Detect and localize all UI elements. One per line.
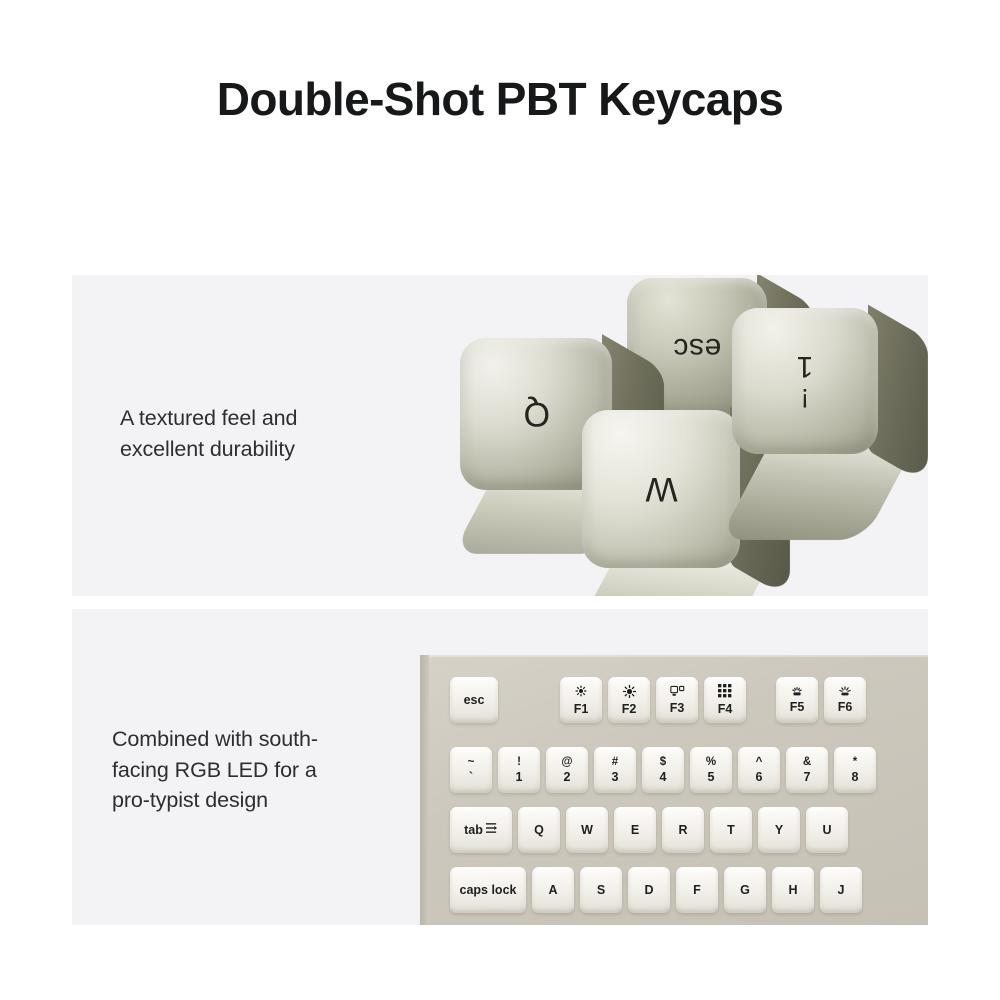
keyboard-key-label: W <box>581 823 593 837</box>
keyboard-key-y[interactable]: Y <box>758 807 800 853</box>
keycap-w-legend: W <box>645 472 678 506</box>
keyboard-key-shift-legend: * <box>853 756 857 769</box>
keyboard-key-wrapper-s: S <box>580 867 622 913</box>
keyboard-key-label: T <box>727 823 735 837</box>
keyboard-key-shift-legend: ^ <box>756 756 763 769</box>
keyboard-key-wrapper-tilde: ~` <box>450 747 492 793</box>
keyboard-key-wrapper-f1: F1 <box>560 677 602 723</box>
keycap-one-base-legend: 1 <box>796 351 813 381</box>
keyboard-key-wrapper-g: G <box>724 867 766 913</box>
product-feature-page: Double-Shot PBT Keycaps A textured feel … <box>0 0 1000 1000</box>
keyboard-key-wrapper-k2: @2 <box>546 747 588 793</box>
keyboard-key-label: E <box>631 823 639 837</box>
keyboard-key-label: caps lock <box>460 883 517 897</box>
keyboard-key-wrapper-k8: *8 <box>834 747 876 793</box>
keyboard-key-e[interactable]: E <box>614 807 656 853</box>
keyboard-key-k1[interactable]: !1 <box>498 747 540 793</box>
keyboard-key-base-legend: 6 <box>756 770 763 784</box>
keyboard-key-shift-legend: ~ <box>468 756 475 769</box>
keyboard-key-t[interactable]: T <box>710 807 752 853</box>
keycap-w: W <box>582 410 740 568</box>
keyboard-row-gap <box>752 677 770 723</box>
keyboard-key-base-legend: 2 <box>564 770 571 784</box>
keyboard-key-label: tab <box>464 823 483 837</box>
keyboard-key-wrapper-d: D <box>628 867 670 913</box>
keyboard-key-s[interactable]: S <box>580 867 622 913</box>
keyboard-photo: esc F1 F2 F3 F4 F5 F6 ~`!1@2#3$4%5^6&7*8… <box>420 655 928 925</box>
keyboard-key-f6[interactable]: F6 <box>824 677 866 723</box>
keyboard-key-base-legend: 4 <box>660 770 667 784</box>
brightness-down-icon <box>574 684 588 701</box>
keyboard-key-wrapper-f4: F4 <box>704 677 746 723</box>
brightness-up-icon <box>622 684 637 702</box>
keyboard-key-k6[interactable]: ^6 <box>738 747 780 793</box>
keyboard-function-row: esc F1 F2 F3 F4 F5 F6 <box>450 677 866 723</box>
keyboard-key-base-legend: ` <box>469 770 473 784</box>
keyboard-key-wrapper-e: E <box>614 807 656 853</box>
keyboard-key-wrapper-f5: F5 <box>776 677 818 723</box>
keyboard-key-w[interactable]: W <box>566 807 608 853</box>
keyboard-key-label: F1 <box>574 702 589 716</box>
keyboard-key-d[interactable]: D <box>628 867 670 913</box>
keyboard-key-f2[interactable]: F2 <box>608 677 650 723</box>
keyboard-key-label: Y <box>775 823 783 837</box>
keyboard-key-label: F4 <box>718 702 733 716</box>
keyboard-key-wrapper-u: U <box>806 807 848 853</box>
keyboard-key-u[interactable]: U <box>806 807 848 853</box>
keyboard-key-wrapper-y: Y <box>758 807 800 853</box>
keyboard-key-shift-legend: & <box>803 756 811 769</box>
keyboard-key-k3[interactable]: #3 <box>594 747 636 793</box>
keyboard-key-base-legend: 5 <box>708 770 715 784</box>
keyboard-key-wrapper-f6: F6 <box>824 677 866 723</box>
keyboard-key-a[interactable]: A <box>532 867 574 913</box>
keyboard-key-wrapper-h: H <box>772 867 814 913</box>
keyboard-key-label: Q <box>534 823 544 837</box>
keyboard-key-r[interactable]: R <box>662 807 704 853</box>
feature-panel-keycap-texture: A textured feel and excellent durability… <box>72 275 928 596</box>
keyboard-key-wrapper-k6: ^6 <box>738 747 780 793</box>
keyboard-key-wrapper-f2: F2 <box>608 677 650 723</box>
keyboard-key-shift-legend: ! <box>517 756 521 769</box>
keyboard-key-k7[interactable]: &7 <box>786 747 828 793</box>
keycap-one: ! 1 <box>732 308 878 454</box>
keyboard-key-wrapper-t: T <box>710 807 752 853</box>
keyboard-key-shift-legend: $ <box>660 756 666 769</box>
keyboard-key-g[interactable]: G <box>724 867 766 913</box>
keyboard-key-tab[interactable]: tab <box>450 807 512 853</box>
keyboard-key-wrapper-r: R <box>662 807 704 853</box>
keyboard-key-label: A <box>548 883 557 897</box>
keyboard-key-base-legend: 8 <box>852 770 859 784</box>
keyboard-key-label: F2 <box>622 702 637 716</box>
keyboard-key-label: F3 <box>670 701 685 715</box>
keyboard-key-wrapper-k5: %5 <box>690 747 732 793</box>
backlight-up-icon <box>837 686 853 700</box>
keyboard-key-f4[interactable]: F4 <box>704 677 746 723</box>
keycap-one-legend: ! 1 <box>796 351 813 411</box>
keyboard-key-q[interactable]: Q <box>518 807 560 853</box>
keycap-q-legend: Q <box>523 397 550 431</box>
keyboard-key-shift-legend: # <box>612 756 618 769</box>
keycap-esc-legend: esc <box>673 333 721 363</box>
keyboard-key-wrapper-k1: !1 <box>498 747 540 793</box>
keyboard-key-wrapper-tab: tab <box>450 807 512 853</box>
feature-caption-texture: A textured feel and excellent durability <box>120 403 380 464</box>
keyboard-key-label: D <box>644 883 653 897</box>
keyboard-key-label: U <box>822 823 831 837</box>
keyboard-key-f1[interactable]: F1 <box>560 677 602 723</box>
keyboard-key-base-legend: 3 <box>612 770 619 784</box>
keyboard-key-label: H <box>788 883 797 897</box>
keyboard-key-wrapper-k7: &7 <box>786 747 828 793</box>
keyboard-key-wrapper-a: A <box>532 867 574 913</box>
keyboard-key-k4[interactable]: $4 <box>642 747 684 793</box>
keyboard-key-label: J <box>838 883 845 897</box>
tab-arrows-icon <box>485 822 498 837</box>
keyboard-key-label: F <box>693 883 701 897</box>
keyboard-key-k8[interactable]: *8 <box>834 747 876 793</box>
keyboard-key-wrapper-f: F <box>676 867 718 913</box>
keyboard-key-wrapper-capslock: caps lock <box>450 867 526 913</box>
keyboard-key-label: esc <box>464 693 485 707</box>
keyboard-key-h[interactable]: H <box>772 867 814 913</box>
keyboard-qwerty-row: tab QWERTYU <box>450 807 848 853</box>
keyboard-number-row: ~`!1@2#3$4%5^6&7*8 <box>450 747 876 793</box>
keyboard-key-shift-legend: @ <box>561 756 572 769</box>
feature-caption-rgb: Combined with south- facing RGB LED for … <box>112 724 372 816</box>
keyboard-key-wrapper-w: W <box>566 807 608 853</box>
keyboard-key-base-legend: 7 <box>804 770 811 784</box>
keyboard-key-esc[interactable]: esc <box>450 677 498 723</box>
keycap-one-shift-legend: ! <box>796 384 813 411</box>
keyboard-key-tilde[interactable]: ~` <box>450 747 492 793</box>
keyboard-key-wrapper-j: J <box>820 867 862 913</box>
page-title: Double-Shot PBT Keycaps <box>0 74 1000 125</box>
keyboard-key-wrapper-k3: #3 <box>594 747 636 793</box>
keyboard-key-wrapper-k4: $4 <box>642 747 684 793</box>
keyboard-key-capslock[interactable]: caps lock <box>450 867 526 913</box>
keyboard-key-f[interactable]: F <box>676 867 718 913</box>
keycap-one-top: ! 1 <box>732 308 878 454</box>
keyboard-key-wrapper-f3: F3 <box>656 677 698 723</box>
backlight-down-icon <box>789 686 805 700</box>
keyboard-key-j[interactable]: J <box>820 867 862 913</box>
keyboard-key-label: R <box>678 823 687 837</box>
keyboard-key-label: F5 <box>790 700 805 714</box>
keyboard-key-label: G <box>740 883 750 897</box>
feature-panel-rgb-led: Combined with south- facing RGB LED for … <box>72 609 928 925</box>
keyboard-key-label: F6 <box>838 700 853 714</box>
keycap-closeup-image: esc Q W <box>422 275 928 596</box>
keyboard-key-wrapper-q: Q <box>518 807 560 853</box>
mission-control-icon <box>670 685 685 700</box>
launchpad-icon <box>718 684 732 701</box>
keyboard-key-f3[interactable]: F3 <box>656 677 698 723</box>
keyboard-row-gap <box>504 677 554 723</box>
keycap-w-top: W <box>582 410 740 568</box>
keyboard-key-base-legend: 1 <box>516 770 523 784</box>
keyboard-key-k5[interactable]: %5 <box>690 747 732 793</box>
keyboard-key-f5[interactable]: F5 <box>776 677 818 723</box>
keyboard-home-row: caps lockASDFGHJ <box>450 867 862 913</box>
keyboard-key-shift-legend: % <box>706 756 716 769</box>
keyboard-key-label: S <box>597 883 605 897</box>
keyboard-key-wrapper-esc: esc <box>450 677 498 723</box>
keyboard-key-k2[interactable]: @2 <box>546 747 588 793</box>
